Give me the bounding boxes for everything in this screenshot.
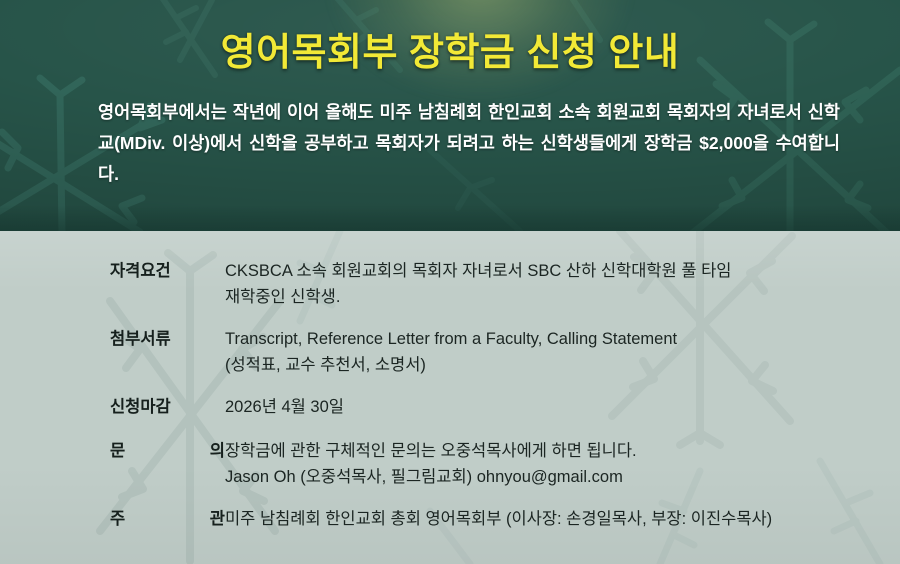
detail-row-organizer: 주 관 미주 남침례회 한인교회 총회 영어목회부 (이사장: 손경일목사, 부… bbox=[110, 506, 890, 532]
detail-line: CKSBCA 소속 회원교회의 목회자 자녀로서 SBC 산하 신학대학원 풀 … bbox=[225, 258, 890, 284]
poster-header: 영어목회부 장학금 신청 안내 영어목회부에서는 작년에 이어 올해도 미주 남… bbox=[0, 0, 900, 231]
detail-line: 2026년 4월 30일 bbox=[225, 394, 890, 420]
detail-line-contact[interactable]: Jason Oh (오중석목사, 필그림교회) ohnyou@gmail.com bbox=[225, 464, 890, 490]
page-title: 영어목회부 장학금 신청 안내 bbox=[0, 21, 900, 76]
detail-value-inquiry: 장학금에 관한 구체적인 문의는 오중석목사에게 하면 됩니다. Jason O… bbox=[225, 438, 890, 490]
scholarship-announcement-poster: 영어목회부 장학금 신청 안내 영어목회부에서는 작년에 이어 올해도 미주 남… bbox=[0, 0, 900, 564]
detail-line: 장학금에 관한 구체적인 문의는 오중석목사에게 하면 됩니다. bbox=[225, 438, 890, 464]
detail-label-qualification: 자격요건 bbox=[110, 258, 225, 284]
detail-line: 재학중인 신학생. bbox=[225, 284, 890, 310]
detail-line: (성적표, 교수 추천서, 소명서) bbox=[225, 352, 890, 378]
detail-row-inquiry: 문 의 장학금에 관한 구체적인 문의는 오중석목사에게 하면 됩니다. Jas… bbox=[110, 438, 890, 490]
detail-line: 미주 남침례회 한인교회 총회 영어목회부 (이사장: 손경일목사, 부장: 이… bbox=[225, 506, 890, 532]
header-bottom-shade bbox=[0, 205, 900, 231]
detail-label-inquiry: 문 의 bbox=[110, 438, 225, 464]
detail-row-documents: 첨부서류 Transcript, Reference Letter from a… bbox=[110, 326, 890, 378]
detail-value-organizer: 미주 남침례회 한인교회 총회 영어목회부 (이사장: 손경일목사, 부장: 이… bbox=[225, 506, 890, 532]
detail-label-organizer: 주 관 bbox=[110, 506, 225, 532]
detail-line: Transcript, Reference Letter from a Facu… bbox=[225, 326, 890, 352]
detail-value-deadline: 2026년 4월 30일 bbox=[225, 394, 890, 420]
detail-value-qualification: CKSBCA 소속 회원교회의 목회자 자녀로서 SBC 산하 신학대학원 풀 … bbox=[225, 258, 890, 310]
detail-label-documents: 첨부서류 bbox=[110, 326, 225, 352]
detail-row-qualification: 자격요건 CKSBCA 소속 회원교회의 목회자 자녀로서 SBC 산하 신학대… bbox=[110, 258, 890, 310]
detail-label-deadline: 신청마감 bbox=[110, 394, 225, 420]
detail-row-deadline: 신청마감 2026년 4월 30일 bbox=[110, 394, 890, 420]
detail-value-documents: Transcript, Reference Letter from a Facu… bbox=[225, 326, 890, 378]
intro-paragraph: 영어목회부에서는 작년에 이어 올해도 미주 남침례회 한인교회 소속 회원교회… bbox=[98, 97, 840, 190]
